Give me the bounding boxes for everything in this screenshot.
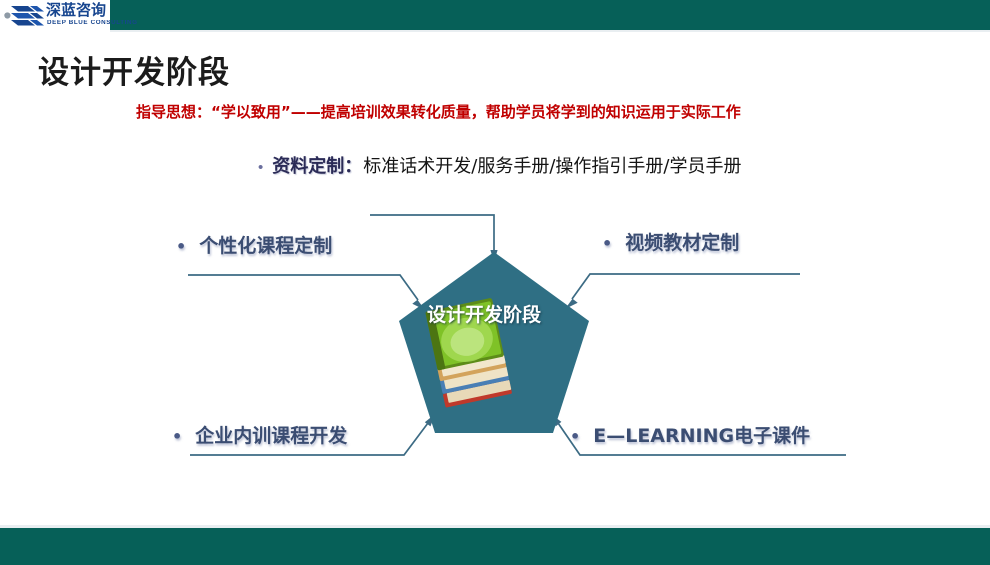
bullet-icon: • — [258, 160, 263, 175]
connector-top-left — [188, 275, 425, 310]
center-pentagon-shape — [399, 252, 589, 433]
node-label-text: 企业内训课程开发 — [195, 421, 347, 448]
logo-text-en: DEEP BLUE CONSULTING — [47, 19, 138, 27]
material-label: 资料定制： — [272, 152, 362, 178]
material-customization-row: • 资料定制： 标准话术开发/服务手册/操作指引手册/学员手册 — [258, 152, 741, 178]
node-label-text: 视频教材定制 — [625, 228, 739, 255]
bullet-icon: • — [172, 429, 182, 445]
connector-top-right — [565, 274, 800, 309]
top-brand-bar — [108, 0, 990, 30]
bullet-icon: • — [602, 236, 612, 252]
node-label-bottom-left: • 企业内训课程开发 — [172, 421, 347, 448]
node-label-top-right: • 视频教材定制 — [602, 228, 739, 255]
center-label: 设计开发阶段 — [427, 300, 541, 327]
material-value: 标准话术开发/服务手册/操作指引手册/学员手册 — [363, 152, 741, 178]
top-bar-underline — [108, 30, 990, 32]
guiding-principle-text: 指导思想：“学以致用”——提高培训效果转化质量，帮助学员将学到的知识运用于实际工… — [136, 101, 741, 122]
node-label-text: 个性化课程定制 — [199, 231, 332, 258]
node-label-top-left: • 个性化课程定制 — [176, 231, 332, 258]
node-label-bottom-right: • E—LEARNING电子课件 — [570, 421, 810, 448]
logo-text-cn: 深蓝咨询 — [46, 2, 106, 18]
slide: 深蓝咨询 DEEP BLUE CONSULTING 设计开发阶段 指导思想：“学… — [0, 0, 990, 565]
brand-logo: 深蓝咨询 DEEP BLUE CONSULTING — [0, 0, 110, 32]
bottom-brand-bar — [0, 528, 990, 565]
bullet-icon: • — [176, 239, 186, 255]
connector-top — [370, 215, 498, 262]
page-title: 设计开发阶段 — [38, 47, 230, 92]
bullet-icon: • — [570, 429, 580, 445]
deep-blue-logo-icon — [4, 3, 44, 29]
node-label-text: E—LEARNING电子课件 — [593, 421, 810, 448]
